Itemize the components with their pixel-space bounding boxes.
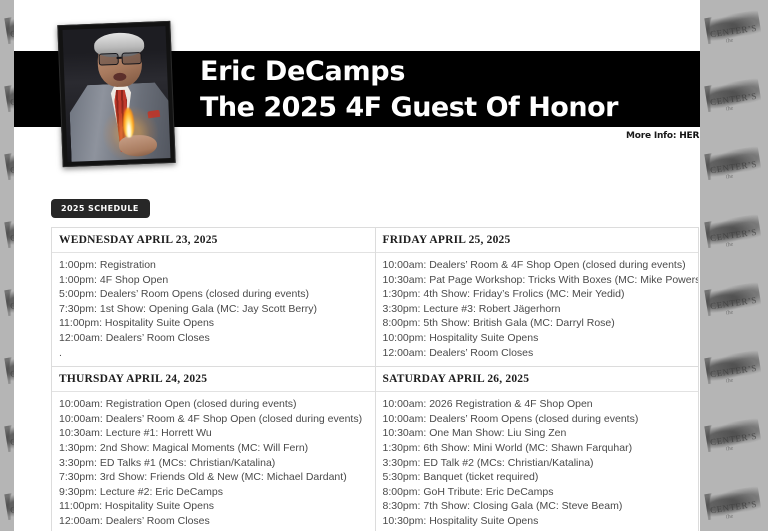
schedule-event: 10:30pm: Hospitality Suite Opens — [383, 514, 699, 529]
day-heading: WEDNESDAY APRIL 23, 2025 — [52, 228, 375, 253]
schedule-event: 12:00am: Dealers’ Room Closes — [59, 514, 375, 529]
watermark-tile: CENTER’Sthe — [0, 204, 14, 272]
watermark-subtext: the — [726, 378, 734, 385]
schedule-event: 1:30pm: 2nd Show: Magical Moments (MC: W… — [59, 441, 375, 456]
watermark-word: CENTER’S — [710, 431, 758, 447]
day-heading: THURSDAY APRIL 24, 2025 — [52, 367, 375, 392]
schedule-event: 1:00pm: 4F Shop Open — [59, 273, 375, 288]
watermark-tile: CENTER’Sthe — [0, 476, 14, 531]
schedule-event: 7:30pm: 1st Show: Opening Gala (MC: Jay … — [59, 302, 375, 317]
watermark-word: CENTER’S — [710, 363, 758, 379]
watermark-subtext: the — [726, 174, 734, 181]
watermark-tile: CENTER’Sthe — [0, 0, 14, 68]
day-cell-friday: FRIDAY APRIL 25, 2025 10:00am: Dealers’ … — [375, 228, 699, 367]
day-heading: SATURDAY APRIL 26, 2025 — [376, 367, 699, 392]
watermark-tile: CENTER’Sthe — [0, 272, 14, 340]
schedule-event: 1:00pm: Registration — [59, 258, 375, 273]
photo-glasses — [97, 52, 142, 65]
schedule-event: 7:30pm: 3rd Show: Friends Old & New (MC:… — [59, 470, 375, 485]
watermark-subtext: the — [726, 514, 734, 521]
watermark-subtext: the — [726, 242, 734, 249]
schedule-event: 5:30pm: Banquet (ticket required) — [383, 470, 699, 485]
watermark-subtext: the — [726, 106, 734, 113]
watermark-word: CENTER’S — [710, 499, 758, 515]
schedule-event: 8:00pm: 5th Show: British Gala (MC: Darr… — [383, 316, 699, 331]
schedule-event: 3:30pm: ED Talk #2 (MCs: Christian/Katal… — [383, 456, 699, 471]
watermark-tile: CENTER’Sthe — [0, 68, 14, 136]
schedule-event: . — [59, 346, 375, 361]
watermark-tile: CENTER’Sthe — [700, 408, 768, 476]
watermark-tile: CENTER’Sthe — [700, 204, 768, 272]
banner-heading: Eric DeCamps The 2025 4F Guest Of Honor — [200, 54, 618, 126]
schedule-event: 11:00pm: Hospitality Suite Opens — [59, 316, 375, 331]
schedule-table: WEDNESDAY APRIL 23, 2025 1:00pm: Registr… — [51, 227, 699, 531]
watermark-subtext: the — [726, 310, 734, 317]
more-info-link[interactable]: More Info: HERE — [626, 131, 700, 141]
table-row: WEDNESDAY APRIL 23, 2025 1:00pm: Registr… — [52, 228, 699, 367]
watermark-tile: CENTER’Sthe — [700, 68, 768, 136]
more-info-here[interactable]: HERE — [679, 131, 700, 141]
schedule-event: 12:00am: Dealers’ Room Closes — [59, 331, 375, 346]
day-events: 10:00am: Registration Open (closed durin… — [52, 392, 375, 531]
guest-of-honor-photo — [57, 21, 175, 167]
day-cell-wednesday: WEDNESDAY APRIL 23, 2025 1:00pm: Registr… — [52, 228, 376, 367]
day-heading: FRIDAY APRIL 25, 2025 — [376, 228, 699, 253]
watermark-word: CENTER’S — [710, 227, 758, 243]
day-events: 1:00pm: Registration1:00pm: 4F Shop Open… — [52, 253, 375, 366]
day-events: 10:00am: Dealers’ Room & 4F Shop Open (c… — [376, 253, 699, 366]
banner-line-2: The 2025 4F Guest Of Honor — [200, 90, 618, 126]
watermark-tile: CENTER’Sthe — [0, 340, 14, 408]
schedule-event: 10:00am: Dealers’ Room Opens (closed dur… — [383, 412, 699, 427]
schedule-event: 5:00pm: Dealers’ Room Opens (closed duri… — [59, 287, 375, 302]
schedule-event: 10:30am: One Man Show: Liu Sing Zen — [383, 426, 699, 441]
day-cell-thursday: THURSDAY APRIL 24, 2025 10:00am: Registr… — [52, 367, 376, 531]
banner-line-1: Eric DeCamps — [200, 54, 618, 90]
schedule-event: 3:30pm: Lecture #3: Robert Jägerhorn — [383, 302, 699, 317]
schedule-badge: 2025 SCHEDULE — [51, 199, 150, 218]
schedule-event: 12:00am: Dealers’ Room Closes — [383, 346, 699, 361]
table-row: THURSDAY APRIL 24, 2025 10:00am: Registr… — [52, 367, 699, 531]
watermark-word: CENTER’S — [710, 91, 758, 107]
schedule-event: 9:30pm: Lecture #2: Eric DeCamps — [59, 485, 375, 500]
schedule-event: 10:00am: Registration Open (closed durin… — [59, 397, 375, 412]
watermark-tile: CENTER’Sthe — [0, 136, 14, 204]
schedule-event: 10:30am: Pat Page Workshop: Tricks With … — [383, 273, 699, 288]
watermark-tile: CENTER’Sthe — [0, 408, 14, 476]
watermark-tile: CENTER’Sthe — [700, 340, 768, 408]
background-watermark-right: CENTER’StheCENTER’StheCENTER’StheCENTER’… — [700, 0, 768, 531]
schedule-event: 1:30pm: 6th Show: Mini World (MC: Shawn … — [383, 441, 699, 456]
watermark-subtext: the — [726, 446, 734, 453]
day-events: 10:00am: 2026 Registration & 4F Shop Ope… — [376, 392, 699, 531]
watermark-subtext: the — [726, 38, 734, 45]
schedule-event: 10:00am: 2026 Registration & 4F Shop Ope… — [383, 397, 699, 412]
schedule-event: 10:00am: Dealers’ Room & 4F Shop Open (c… — [383, 258, 699, 273]
watermark-word: CENTER’S — [710, 295, 758, 311]
watermark-word: CENTER’S — [710, 159, 758, 175]
watermark-tile: CENTER’Sthe — [700, 476, 768, 531]
schedule-event: 8:30pm: 7th Show: Closing Gala (MC: Stev… — [383, 499, 699, 514]
schedule-event: 3:30pm: ED Talks #1 (MCs: Christian/Kata… — [59, 456, 375, 471]
schedule-event: 1:30pm: 4th Show: Friday’s Frolics (MC: … — [383, 287, 699, 302]
watermark-tile: CENTER’Sthe — [700, 272, 768, 340]
schedule-event: 10:00pm: Hospitality Suite Opens — [383, 331, 699, 346]
day-cell-saturday: SATURDAY APRIL 26, 2025 10:00am: 2026 Re… — [375, 367, 699, 531]
watermark-tile: CENTER’Sthe — [700, 136, 768, 204]
schedule-event: 10:30am: Lecture #1: Horrett Wu — [59, 426, 375, 441]
watermark-word: CENTER’S — [710, 23, 758, 39]
photo-image — [63, 26, 171, 162]
schedule-event: 8:00pm: GoH Tribute: Eric DeCamps — [383, 485, 699, 500]
background-watermark-left: CENTER’StheCENTER’StheCENTER’StheCENTER’… — [0, 0, 14, 531]
schedule-event: 10:00am: Dealers’ Room & 4F Shop Open (c… — [59, 412, 375, 427]
page-content: Eric DeCamps The 2025 4F Guest Of Honor … — [14, 0, 700, 531]
schedule-event: 11:00pm: Hospitality Suite Opens — [59, 499, 375, 514]
more-info-label: More Info: — [626, 131, 676, 141]
watermark-tile: CENTER’Sthe — [700, 0, 768, 68]
